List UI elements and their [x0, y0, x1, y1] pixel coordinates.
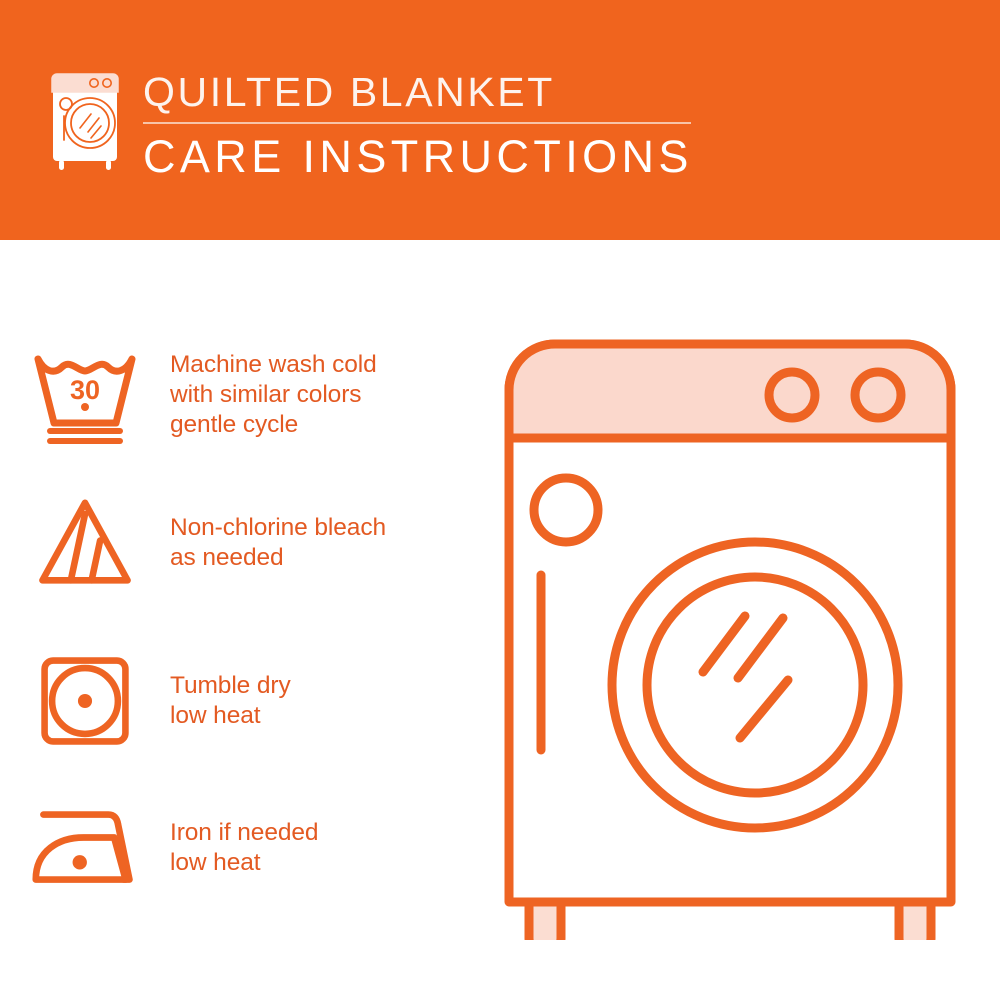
care-item-label: Tumble dry low heat — [170, 671, 291, 731]
foot-right — [899, 902, 931, 940]
page-title-secondary: CARE INSTRUCTIONS — [143, 131, 843, 183]
washing-machine-icon — [44, 66, 128, 178]
non-chlorine-bleach-triangle-icon — [0, 495, 170, 590]
header-titles: QUILTED BLANKET CARE INSTRUCTIONS — [143, 68, 843, 183]
knob-right — [855, 372, 901, 418]
iron-low-heat-icon — [0, 805, 170, 891]
care-item-bleach: Non-chlorine bleach as needed — [0, 490, 470, 595]
knob-left — [769, 372, 815, 418]
care-instructions-page: QUILTED BLANKET CARE INSTRUCTIONS 30 — [0, 0, 1000, 1000]
care-instructions-list: 30 Machine wash cold with similar colors… — [0, 240, 470, 1000]
care-item-tumble-dry: Tumble dry low heat — [0, 648, 470, 753]
wash-temperature-label: 30 — [70, 375, 100, 405]
care-item-iron: Iron if needed low heat — [0, 798, 470, 898]
washing-machine-illustration — [495, 330, 965, 940]
care-item-label: Non-chlorine bleach as needed — [170, 513, 386, 573]
page-title-primary: QUILTED BLANKET — [143, 68, 843, 116]
foot-left — [529, 902, 561, 940]
care-item-label: Machine wash cold with similar colors ge… — [170, 350, 377, 440]
care-item-label: Iron if needed low heat — [170, 818, 318, 878]
tumble-dry-low-icon — [0, 654, 170, 748]
title-divider — [143, 122, 691, 124]
wash-tub-30-icon: 30 — [0, 345, 170, 445]
header-band: QUILTED BLANKET CARE INSTRUCTIONS — [0, 0, 1000, 240]
care-item-machine-wash: 30 Machine wash cold with similar colors… — [0, 340, 470, 450]
